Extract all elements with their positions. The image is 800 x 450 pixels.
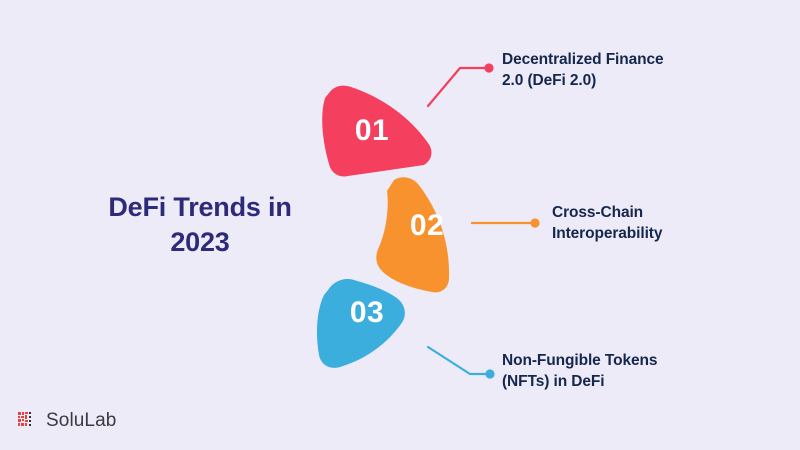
arc-segment-01[interactable]: 01 <box>322 86 431 177</box>
connector-line-01 <box>428 63 494 106</box>
callout-label-01-line-1: Decentralized Finance <box>502 50 752 71</box>
connector-dot-02 <box>530 218 539 227</box>
callout-label-03: Non-Fungible Tokens (NFTs) in DeFi <box>502 351 752 393</box>
infographic-canvas: DeFi Trends in 2023 01 02 03 <box>0 0 800 450</box>
callout-label-03-line-1: Non-Fungible Tokens <box>502 351 752 372</box>
arc-segment-02[interactable]: 02 <box>376 177 449 292</box>
arc-segment-02-number: 02 <box>410 209 444 242</box>
callout-label-01-line-2: 2.0 (DeFi 2.0) <box>502 71 752 92</box>
connector-line-02 <box>472 218 540 227</box>
connector-line-03-path <box>428 347 486 374</box>
solulab-logo-icon <box>18 411 38 431</box>
callout-label-02: Cross-Chain Interoperability <box>552 203 782 245</box>
callout-label-01: Decentralized Finance 2.0 (DeFi 2.0) <box>502 50 752 92</box>
callout-label-02-line-2: Interoperability <box>552 224 782 245</box>
connector-dot-01 <box>484 63 493 72</box>
brand-name: SoluLab <box>46 410 116 432</box>
callout-label-03-line-2: (NFTs) in DeFi <box>502 372 752 393</box>
connector-dot-03 <box>485 369 494 378</box>
arc-segment-01-number: 01 <box>355 114 389 147</box>
brand-logo: SoluLab <box>18 410 116 432</box>
callout-label-02-line-1: Cross-Chain <box>552 203 782 224</box>
connector-line-03 <box>428 347 495 379</box>
connector-line-01-path <box>428 68 486 106</box>
arc-segment-03[interactable]: 03 <box>317 279 405 368</box>
arc-segment-03-number: 03 <box>350 296 384 329</box>
